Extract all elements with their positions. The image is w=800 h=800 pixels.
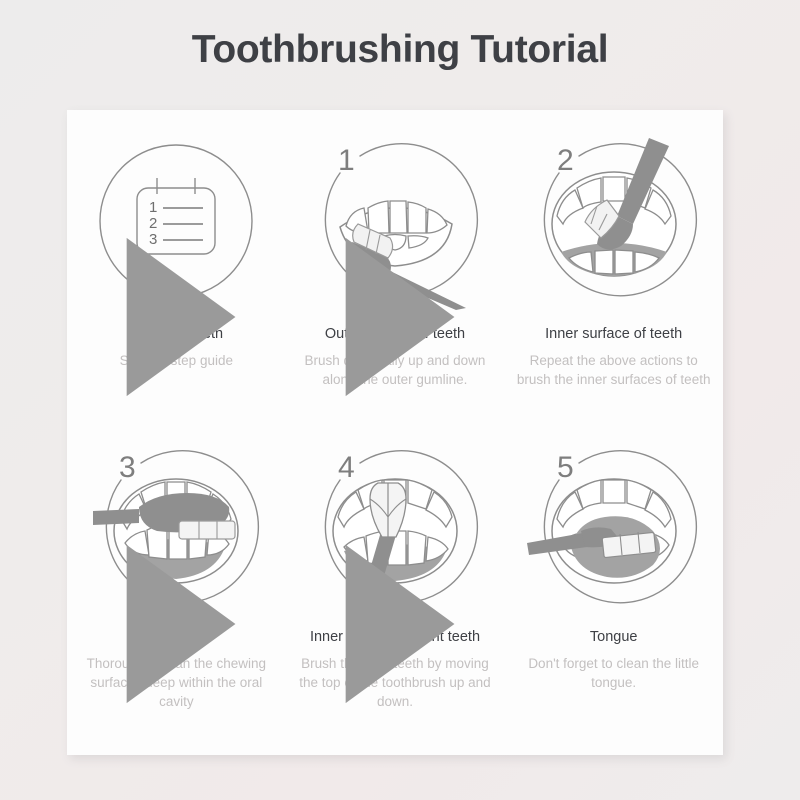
steps-grid: 1 2 3 Brushing teeth Step-by-step guide <box>67 110 723 755</box>
connector-arrow-icon <box>97 228 275 406</box>
molars-brushing-icon: 3 <box>87 439 265 617</box>
card-description: Don't forget to clean the little tongue. <box>511 654 716 692</box>
step-number: 3 <box>119 451 136 484</box>
connector-arrow-icon <box>316 228 494 406</box>
step-number: 1 <box>338 144 355 177</box>
step-card-molars[interactable]: 3 <box>67 433 286 756</box>
connector-arrow-icon <box>316 535 494 713</box>
step-number: 2 <box>557 144 574 177</box>
step-number: 5 <box>557 451 574 484</box>
outer-teeth-brushing-icon: 1 <box>306 132 484 310</box>
tutorial-panel: 1 2 3 Brushing teeth Step-by-step guide <box>67 110 723 755</box>
step-card-front-teeth-inner[interactable]: 4 <box>286 433 505 756</box>
card-title: Inner surface of teeth <box>545 326 682 342</box>
step-card-inner-surface[interactable]: 2 <box>504 110 723 433</box>
step-card-tongue[interactable]: 5 <box>504 433 723 756</box>
connector-arrow-icon <box>97 535 275 713</box>
card-description: Repeat the above actions to brush the in… <box>511 351 716 389</box>
page-title: Toothbrushing Tutorial <box>0 28 800 72</box>
checklist-clipboard-icon: 1 2 3 <box>87 132 265 310</box>
step-card-outer-surface[interactable]: 1 <box>286 110 505 433</box>
card-title: Tongue <box>590 629 638 645</box>
tongue-cleaning-icon: 5 <box>525 439 703 617</box>
step-number: 4 <box>338 451 355 484</box>
list-num-1: 1 <box>149 199 157 216</box>
step-card-brushing-teeth[interactable]: 1 2 3 Brushing teeth Step-by-step guide <box>67 110 286 433</box>
front-teeth-inner-brushing-icon: 4 <box>306 439 484 617</box>
inner-teeth-brushing-icon: 2 <box>525 132 703 310</box>
